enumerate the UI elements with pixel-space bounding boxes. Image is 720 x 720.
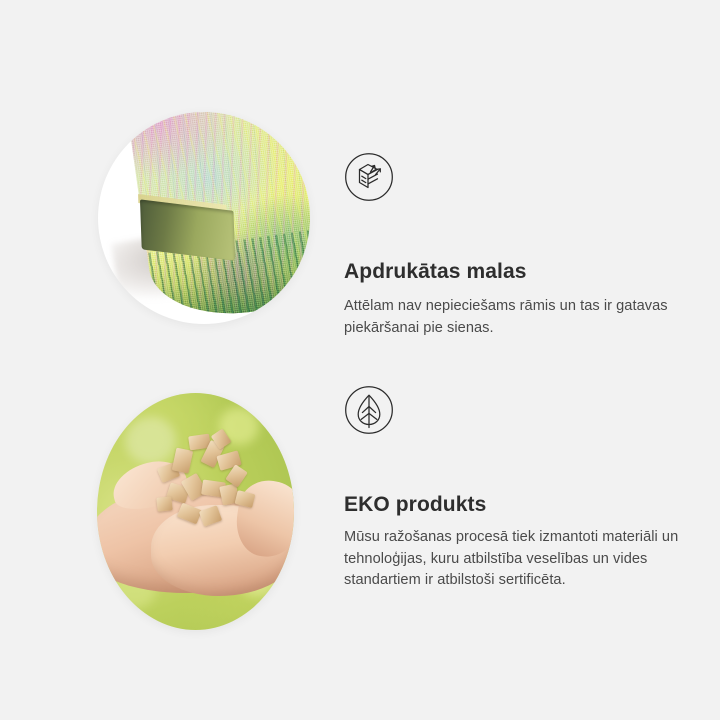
feature-title-eco: EKO produkts [344, 493, 689, 517]
feature-block-printed-edges: Apdrukātas malas Attēlam nav nepieciešam… [0, 0, 720, 340]
canvas-print-corner-photo [98, 112, 310, 324]
white-disc-backdrop [98, 112, 310, 324]
feature-description-printed-edges: Attēlam nav nepieciešams rāmis un tas ir… [344, 296, 684, 339]
feature-text-column-eco: EKO produkts Mūsu ražošanas procesā tiek… [344, 385, 689, 592]
feature-description-eco: Mūsu ražošanas procesā tiek izmantoti ma… [344, 527, 689, 592]
hands-holding-wood-chips-photo [97, 393, 294, 630]
leaf-icon [344, 385, 394, 435]
feature-list-page: Apdrukātas malas Attēlam nav nepieciešam… [0, 0, 720, 720]
canvas-wrapped-edge-icon [344, 152, 394, 202]
feature-block-eco: EKO produkts Mūsu ražošanas procesā tiek… [0, 340, 720, 720]
wood-chip-pile [152, 426, 262, 540]
canvas-print-block [126, 112, 310, 324]
feature-title-printed-edges: Apdrukātas malas [344, 260, 684, 284]
feature-text-column-printed-edges: Apdrukātas malas Attēlam nav nepieciešam… [344, 152, 684, 339]
